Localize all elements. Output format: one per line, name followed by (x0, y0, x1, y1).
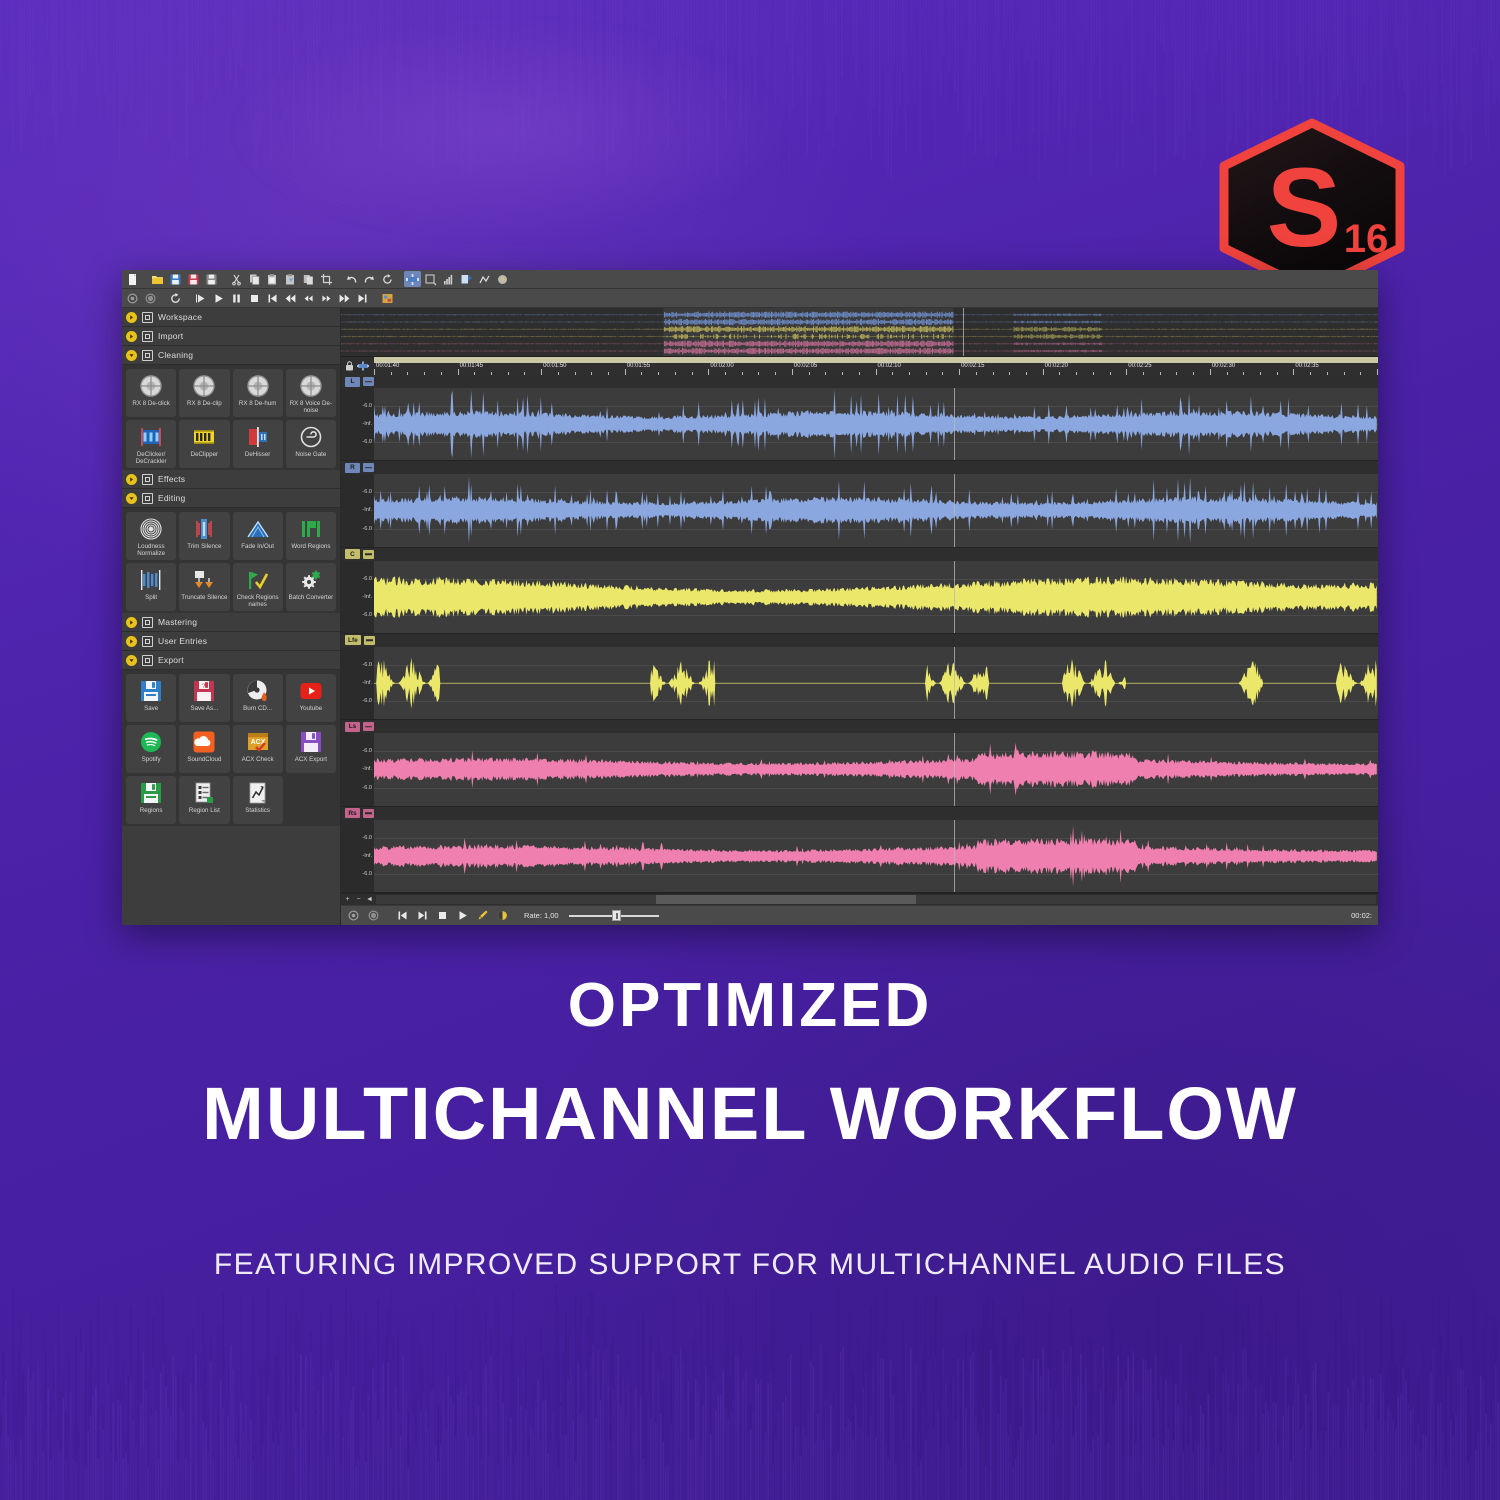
channel-body: -6.0-Inf.-6.0 (341, 388, 1378, 460)
channel-mute-button[interactable] (363, 463, 374, 472)
channel-mute-button[interactable] (363, 550, 374, 559)
toolbar-separator (397, 272, 404, 286)
chevron-down-icon[interactable] (126, 350, 137, 361)
chevron-down-icon[interactable] (126, 655, 137, 666)
playhead-cursor[interactable] (954, 733, 955, 805)
chevron-right-icon[interactable] (126, 474, 137, 485)
ruler-major-tick (625, 369, 626, 375)
sidebar-button-grid: Loudness NormalizeTrim SilenceFade In/Ou… (122, 508, 340, 613)
ruler-time-label: 00:02:05 (792, 363, 817, 369)
mastering-icon (142, 617, 153, 628)
paste-special-icon[interactable] (282, 271, 299, 287)
pencil-edit-icon[interactable] (474, 908, 491, 924)
tool-button-noise-gate[interactable]: Noise Gate (286, 420, 336, 468)
waveform-display[interactable] (374, 561, 1378, 633)
ruler-minor-tick (407, 372, 408, 375)
channel-body: -6.0-Inf.-6.0 (341, 647, 1378, 719)
spotify-icon (139, 730, 163, 754)
tool-button-label: Regions (139, 807, 164, 814)
rate-slider[interactable] (569, 909, 659, 923)
channel-r: R-6.0-Inf.-6.0 (341, 461, 1378, 547)
ruler-minor-tick (491, 372, 492, 375)
tool-button-truncate-silence[interactable]: Truncate Silence (179, 563, 229, 611)
ruler-minor-tick (725, 372, 726, 375)
pause-icon[interactable] (228, 290, 245, 306)
overview-playhead[interactable] (963, 308, 964, 356)
ruler-minor-tick (809, 372, 810, 375)
db-scale-label: -Inf. (362, 680, 372, 686)
db-scale-label: -6.0 (362, 576, 372, 582)
tool-button-label: Region List (188, 807, 221, 814)
channel-body: -6.0-Inf.-6.0 (341, 474, 1378, 546)
sidebar-section-label: Export (158, 655, 184, 665)
tool-button-label: Word Regions (290, 543, 331, 550)
ruler-major-tick (959, 369, 960, 375)
channel-mute-button[interactable] (363, 722, 374, 731)
ruler-major-tick (876, 369, 877, 375)
tool-button-label: ACX Check (241, 756, 275, 763)
ruler-time-label: 00:02:40 (1377, 363, 1378, 369)
ruler-minor-tick (942, 372, 943, 375)
tool-button-label: Check Regions names (233, 594, 283, 609)
truncate-silence-icon (192, 568, 216, 592)
ruler-minor-tick (1143, 372, 1144, 375)
rx-knob-icon (192, 374, 216, 398)
ruler-minor-tick (775, 372, 776, 375)
help-icon[interactable]: ? (494, 271, 511, 287)
save-floppy-icon (139, 679, 163, 703)
sidebar-button-grid: Save?Save As...Burn CD...YoutubeSpotifyS… (122, 670, 340, 826)
channel-tag[interactable]: R (345, 463, 360, 473)
sidebar-section-mastering[interactable]: Mastering (122, 613, 340, 632)
scroll-thumb[interactable] (656, 895, 916, 904)
save-as-icon[interactable] (185, 271, 202, 287)
tool-button-label: Loudness Normalize (126, 543, 176, 558)
toolbar-separator (336, 272, 343, 286)
channel-body: -6.0-Inf.-6.0 (341, 733, 1378, 805)
db-scale-label: -6.0 (362, 439, 372, 445)
split-icon (139, 568, 163, 592)
toolbar-separator (385, 909, 392, 923)
refresh-icon[interactable] (379, 271, 396, 287)
ruler-time-label: 00:02:35 (1293, 363, 1318, 369)
crop-icon[interactable] (318, 271, 335, 287)
contrast-icon[interactable] (494, 908, 511, 924)
ruler-major-tick (374, 369, 375, 375)
sidebar-section-label: Cleaning (158, 350, 193, 360)
word-regions-icon (299, 517, 323, 541)
statistics-icon (246, 781, 270, 805)
region-mode-icon[interactable] (379, 290, 396, 306)
sidebar-section-effects[interactable]: Effects (122, 470, 340, 489)
ruler-time-label: 00:01:40 (374, 363, 399, 369)
waveform-path (374, 474, 1378, 546)
tool-button-word-regions[interactable]: Word Regions (286, 512, 336, 560)
effects-icon (142, 474, 153, 485)
analysis-icon[interactable] (476, 271, 493, 287)
timeline-ruler[interactable]: 00:01:4000:01:4500:01:5000:01:5500:02:00… (374, 357, 1378, 375)
sidebar-button-grid: RX 8 De-clickRX 8 De-clipRX 8 De-humRX 8… (122, 365, 340, 470)
ruler-time-label: 00:02:00 (708, 363, 733, 369)
channel-header: Rs (341, 807, 1378, 820)
db-scale-label: -6.0 (362, 526, 372, 532)
region-list-icon (192, 781, 216, 805)
playhead-cursor[interactable] (954, 820, 955, 892)
sidebar-section-label: Workspace (158, 312, 202, 322)
channel-header: Ls (341, 720, 1378, 733)
ruler-minor-tick (474, 372, 475, 375)
ruler-major-tick (792, 369, 793, 375)
subheadline: FEATURING IMPROVED SUPPORT FOR MULTICHAN… (0, 1248, 1500, 1282)
fast-forward-icon[interactable] (318, 290, 335, 306)
tool-button-label: RX 8 De-hum (238, 400, 277, 407)
sidebar-section-workspace[interactable]: Workspace (122, 308, 340, 327)
loop-icon[interactable] (167, 290, 184, 306)
channel-l: L-6.0-Inf.-6.0 (341, 375, 1378, 461)
channel-header: Lfe (341, 634, 1378, 647)
chevron-right-icon[interactable] (126, 331, 137, 342)
ruler-minor-tick (692, 372, 693, 375)
tool-button-label: DeHisser (244, 451, 271, 458)
previous-marker-icon[interactable] (282, 290, 299, 306)
ruler-major-tick (1126, 369, 1127, 375)
ruler-time-label: 00:01:55 (625, 363, 650, 369)
waveform-display[interactable] (374, 820, 1378, 892)
go-to-end-icon[interactable] (414, 908, 431, 924)
fade-in-out-icon (246, 517, 270, 541)
scroll-left-icon[interactable]: ◄ (365, 895, 374, 904)
soundcloud-icon (192, 730, 216, 754)
ruler-major-tick (1293, 369, 1294, 375)
db-scale-label: -6.0 (362, 489, 372, 495)
select-tool-icon[interactable] (404, 271, 421, 287)
ruler-minor-tick (441, 372, 442, 375)
ruler-time-label: 00:02:20 (1043, 363, 1068, 369)
tool-button-label: Statistics (244, 807, 271, 814)
youtube-icon (299, 679, 323, 703)
waveform-path (374, 388, 1378, 460)
tool-button-label: Save As... (189, 705, 219, 712)
channel-tag[interactable]: Rs (345, 808, 360, 818)
tool-button-trim-silence[interactable]: Trim Silence (179, 512, 229, 560)
db-scale-label: -6.0 (362, 748, 372, 754)
stop-icon[interactable] (434, 908, 451, 924)
import-icon (142, 331, 153, 342)
ruler-minor-tick (909, 372, 910, 375)
db-scale-label: -6.0 (362, 871, 372, 877)
logo-version: 16 (1344, 217, 1389, 261)
trim-silence-icon (192, 517, 216, 541)
horizontal-scrollbar[interactable]: + − ◄ (341, 893, 1378, 905)
tool-button-soundcloud[interactable]: SoundCloud (179, 725, 229, 773)
go-to-end-icon[interactable] (354, 290, 371, 306)
sidebar-section-label: Editing (158, 493, 185, 503)
ruler-time-label: 00:02:10 (876, 363, 901, 369)
play-icon[interactable] (210, 290, 227, 306)
ruler-minor-tick (976, 372, 977, 375)
channel-tag[interactable]: C (345, 549, 360, 559)
ruler-minor-tick (1110, 372, 1111, 375)
tool-button-spotify[interactable]: Spotify (126, 725, 176, 773)
logo-letter: S (1267, 145, 1342, 270)
chevron-right-icon[interactable] (126, 617, 137, 628)
go-to-start-icon[interactable] (394, 908, 411, 924)
undo-icon[interactable] (343, 271, 360, 287)
ruler-major-tick (708, 369, 709, 375)
tool-button-region-list[interactable]: Region List (179, 776, 229, 824)
ruler-minor-tick (1227, 372, 1228, 375)
redo-icon[interactable] (361, 271, 378, 287)
db-scale-label: -6.0 (362, 403, 372, 409)
playhead-cursor[interactable] (954, 474, 955, 546)
toolbar-separator (372, 291, 379, 305)
playhead-cursor[interactable] (954, 647, 955, 719)
paste-icon[interactable] (264, 271, 281, 287)
workspace-icon (142, 312, 153, 323)
sidebar-section-label: User Entries (158, 636, 207, 646)
rate-label: Rate: 1,00 (524, 911, 559, 920)
audio-editor-window: ? WorkspaceImportCleaningRX 8 De-clickRX… (122, 270, 1378, 925)
tool-button-rx-8-de-click[interactable]: RX 8 De-click (126, 369, 176, 417)
waveform-display[interactable] (374, 733, 1378, 805)
channel-mute-button[interactable] (364, 636, 375, 645)
ruler-time-label: 00:02:25 (1126, 363, 1151, 369)
regions-floppy-icon (139, 781, 163, 805)
channel-header: R (341, 461, 1378, 474)
tool-button-fade-in-out[interactable]: Fade In/Out (233, 512, 283, 560)
tool-button-label: Burn CD... (242, 705, 273, 712)
save-icon[interactable] (167, 271, 184, 287)
burn-cd-icon (246, 679, 270, 703)
cut-icon[interactable] (228, 271, 245, 287)
ruler-minor-tick (1327, 372, 1328, 375)
tool-button-burn-cd[interactable]: Burn CD... (233, 674, 283, 722)
ruler-minor-tick (1193, 372, 1194, 375)
tool-button-rx-8-voice-de-noise[interactable]: RX 8 Voice De-noise (286, 369, 336, 417)
channel-c: C-6.0-Inf.-6.0 (341, 548, 1378, 634)
tool-button-youtube[interactable]: Youtube (286, 674, 336, 722)
db-scale-label: -6.0 (362, 698, 372, 704)
waveform-path (374, 647, 1378, 719)
waveform-display[interactable] (374, 388, 1378, 460)
svg-text:?: ? (500, 275, 505, 284)
record-icon[interactable] (365, 908, 382, 924)
tool-button-rx-8-de-hum[interactable]: RX 8 De-hum (233, 369, 283, 417)
ruler-minor-tick (508, 372, 509, 375)
waveform-path (374, 561, 1378, 633)
channel-mute-button[interactable] (363, 809, 374, 818)
lock-icon[interactable] (345, 361, 354, 371)
ruler-time-label: 00:01:50 (541, 363, 566, 369)
ruler-minor-tick (524, 372, 525, 375)
sidebar-empty-area (122, 826, 340, 925)
tool-button-batch-converter[interactable]: Batch Converter (286, 563, 336, 611)
rate-slider-knob[interactable] (612, 910, 621, 921)
play-selection-icon[interactable] (192, 290, 209, 306)
tool-button-label: RX 8 Voice De-noise (286, 400, 336, 415)
markers-icon[interactable] (458, 271, 475, 287)
next-marker-icon[interactable] (336, 290, 353, 306)
ruler-minor-tick (926, 372, 927, 375)
tool-button-split[interactable]: Split (126, 563, 176, 611)
ruler-minor-tick (1260, 372, 1261, 375)
channel-db-scale: -6.0-Inf.-6.0 (341, 388, 374, 460)
db-scale-label: -Inf. (362, 766, 372, 772)
export-icon (142, 655, 153, 666)
playhead-cursor[interactable] (954, 561, 955, 633)
db-scale-label: -6.0 (362, 612, 372, 618)
chevron-right-icon[interactable] (126, 636, 137, 647)
waveform-display[interactable] (374, 474, 1378, 546)
zoom-tool-icon[interactable] (422, 271, 439, 287)
timeline-ruler-row: 00:01:4000:01:4500:01:5000:01:5500:02:00… (341, 357, 1378, 375)
zoom-out-icon[interactable]: − (354, 895, 363, 904)
sidebar-section-export[interactable]: Export (122, 651, 340, 670)
save-all-icon[interactable] (203, 271, 220, 287)
headline-line-1: OPTIMIZED (0, 975, 1500, 1037)
ruler-minor-tick (658, 372, 659, 375)
record-arm-icon[interactable] (124, 290, 141, 306)
go-to-start-icon[interactable] (264, 290, 281, 306)
ruler-minor-tick (1093, 372, 1094, 375)
open-folder-icon[interactable] (149, 271, 166, 287)
copy-icon[interactable] (246, 271, 263, 287)
sidebar-section-label: Import (158, 331, 183, 341)
stop-icon[interactable] (246, 290, 263, 306)
channel-link-icon[interactable] (357, 361, 369, 371)
waveform-path (374, 733, 1378, 805)
tool-button-loudness-normalize[interactable]: Loudness Normalize (126, 512, 176, 560)
ruler-minor-tick (758, 372, 759, 375)
overview-minimap[interactable] (341, 308, 1378, 357)
record-arm-icon[interactable] (345, 908, 362, 924)
tool-button-statistics[interactable]: Statistics (233, 776, 283, 824)
ruler-minor-tick (1009, 372, 1010, 375)
zoom-in-icon[interactable]: + (343, 895, 352, 904)
ruler-major-tick (1043, 369, 1044, 375)
rewind-icon[interactable] (300, 290, 317, 306)
channel-tag[interactable]: Ls (345, 722, 360, 732)
tool-button-label: Split (144, 594, 158, 601)
tool-button-save-as[interactable]: ?Save As... (179, 674, 229, 722)
channel-mute-button[interactable] (363, 377, 374, 386)
sidebar-section-editing[interactable]: Editing (122, 489, 340, 508)
ruler-major-tick (458, 369, 459, 375)
tool-button-dehisser[interactable]: DeHisser (233, 420, 283, 468)
ruler-minor-tick (641, 372, 642, 375)
tool-button-regions[interactable]: Regions (126, 776, 176, 824)
tool-button-label: RX 8 De-click (131, 400, 170, 407)
ruler-minor-tick (608, 372, 609, 375)
waveform-path (374, 820, 1378, 892)
ruler-minor-tick (1160, 372, 1161, 375)
channel-body: -6.0-Inf.-6.0 (341, 820, 1378, 892)
tool-button-label: Save (143, 705, 159, 712)
spectrum-icon[interactable] (440, 271, 457, 287)
ruler-minor-tick (591, 372, 592, 375)
ruler-time-label: 00:02:30 (1210, 363, 1235, 369)
ruler-minor-tick (1344, 372, 1345, 375)
scroll-track[interactable] (376, 895, 1376, 904)
db-scale-label: -Inf. (362, 507, 372, 513)
tool-button-label: Batch Converter (288, 594, 335, 601)
tool-button-acx-check[interactable]: ACXACX Check (233, 725, 283, 773)
channel-tag[interactable]: L (345, 377, 360, 387)
status-time: 00:02: (1351, 911, 1374, 920)
ruler-minor-tick (1026, 372, 1027, 375)
db-scale-label: -6.0 (362, 835, 372, 841)
db-scale-label: -6.0 (362, 785, 372, 791)
toolbar-separator (221, 272, 228, 286)
waveform-display[interactable] (374, 647, 1378, 719)
playhead-cursor[interactable] (954, 388, 955, 460)
ruler-major-tick (541, 369, 542, 375)
ruler-time-label: 00:01:45 (458, 363, 483, 369)
tool-button-label: DeClipper (190, 451, 220, 458)
record-icon[interactable] (142, 290, 159, 306)
batch-converter-icon (299, 568, 323, 592)
channel-db-scale: -6.0-Inf.-6.0 (341, 820, 374, 892)
channel-db-scale: -6.0-Inf.-6.0 (341, 733, 374, 805)
play-icon[interactable] (454, 908, 471, 924)
tool-button-rx-8-de-clip[interactable]: RX 8 De-clip (179, 369, 229, 417)
ruler-minor-tick (424, 372, 425, 375)
sidebar-section-import[interactable]: Import (122, 327, 340, 346)
loudness-normalize-icon (139, 517, 163, 541)
chevron-right-icon[interactable] (126, 312, 137, 323)
db-scale-label: -6.0 (362, 662, 372, 668)
tool-button-declicker-decrackler[interactable]: DeClicker/ DeCrackler (126, 420, 176, 468)
rx-knob-icon (246, 374, 270, 398)
channel-db-scale: -6.0-Inf.-6.0 (341, 647, 374, 719)
duplicate-icon[interactable] (300, 271, 317, 287)
ruler-minor-tick (1360, 372, 1361, 375)
declipper-icon (192, 425, 216, 449)
sidebar-section-user-entries[interactable]: User Entries (122, 632, 340, 651)
sidebar-section-cleaning[interactable]: Cleaning (122, 346, 340, 365)
tool-button-save[interactable]: Save (126, 674, 176, 722)
db-scale-label: -Inf. (362, 594, 372, 600)
tool-button-check-regions-names[interactable]: Check Regions names (233, 563, 283, 611)
ruler-minor-tick (993, 372, 994, 375)
ruler-major-tick (1377, 369, 1378, 375)
ruler-minor-tick (892, 372, 893, 375)
channel-rs: Rs-6.0-Inf.-6.0 (341, 807, 1378, 893)
acx-export-icon (299, 730, 323, 754)
ruler-minor-tick (1076, 372, 1077, 375)
ruler-minor-tick (742, 372, 743, 375)
ruler-minor-tick (1310, 372, 1311, 375)
channel-db-scale: -6.0-Inf.-6.0 (341, 474, 374, 546)
db-scale-label: -Inf. (362, 421, 372, 427)
ruler-minor-tick (825, 372, 826, 375)
channel-header: L (341, 375, 1378, 388)
new-file-icon[interactable] (124, 271, 141, 287)
save-as-floppy-icon: ? (192, 679, 216, 703)
tool-button-declipper[interactable]: DeClipper (179, 420, 229, 468)
channel-tag[interactable]: Lfe (345, 635, 361, 645)
ruler-minor-tick (1176, 372, 1177, 375)
noise-gate-icon (299, 425, 323, 449)
ruler-minor-tick (859, 372, 860, 375)
ruler-minor-tick (1059, 372, 1060, 375)
ruler-minor-tick (1277, 372, 1278, 375)
toolbar-separator (142, 272, 149, 286)
tool-button-acx-export[interactable]: ACX Export (286, 725, 336, 773)
tool-button-label: ACX Export (294, 756, 328, 763)
channel-body: -6.0-Inf.-6.0 (341, 561, 1378, 633)
chevron-down-icon[interactable] (126, 493, 137, 504)
